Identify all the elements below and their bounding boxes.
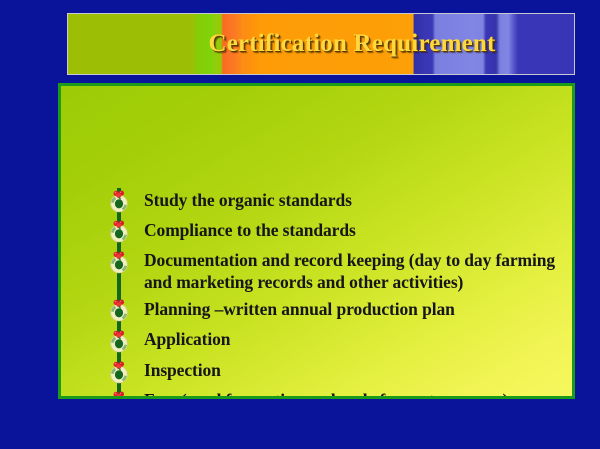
wreath-bullet-icon bbox=[108, 329, 130, 353]
bullet-item-text: Application bbox=[144, 329, 566, 351]
bullet-item-text: Inspection bbox=[144, 360, 566, 382]
wreath-bullet-icon bbox=[108, 219, 130, 243]
wreath-bullet-icon bbox=[108, 189, 130, 213]
bullet-item-text: Compliance to the standards bbox=[144, 220, 566, 242]
slide-content-panel: Study the organic standardsCompliance to… bbox=[58, 83, 575, 399]
bullet-item-text: Fees (need for costing and scale for cos… bbox=[144, 390, 566, 399]
presentation-slide: Certification Requirement Study the orga… bbox=[0, 0, 600, 449]
bullet-item-text: Planning –written annual production plan bbox=[144, 299, 566, 321]
bullet-item-text: Study the organic standards bbox=[144, 190, 566, 212]
wreath-bullet-icon bbox=[108, 360, 130, 384]
wreath-bullet-icon bbox=[108, 250, 130, 274]
wreath-bullet-icon bbox=[108, 390, 130, 399]
bullet-item-text: Documentation and record keeping (day to… bbox=[144, 250, 566, 294]
slide-title: Certification Requirement bbox=[68, 30, 574, 58]
wreath-bullet-icon bbox=[108, 298, 130, 322]
slide-title-bar: Certification Requirement bbox=[67, 13, 575, 75]
